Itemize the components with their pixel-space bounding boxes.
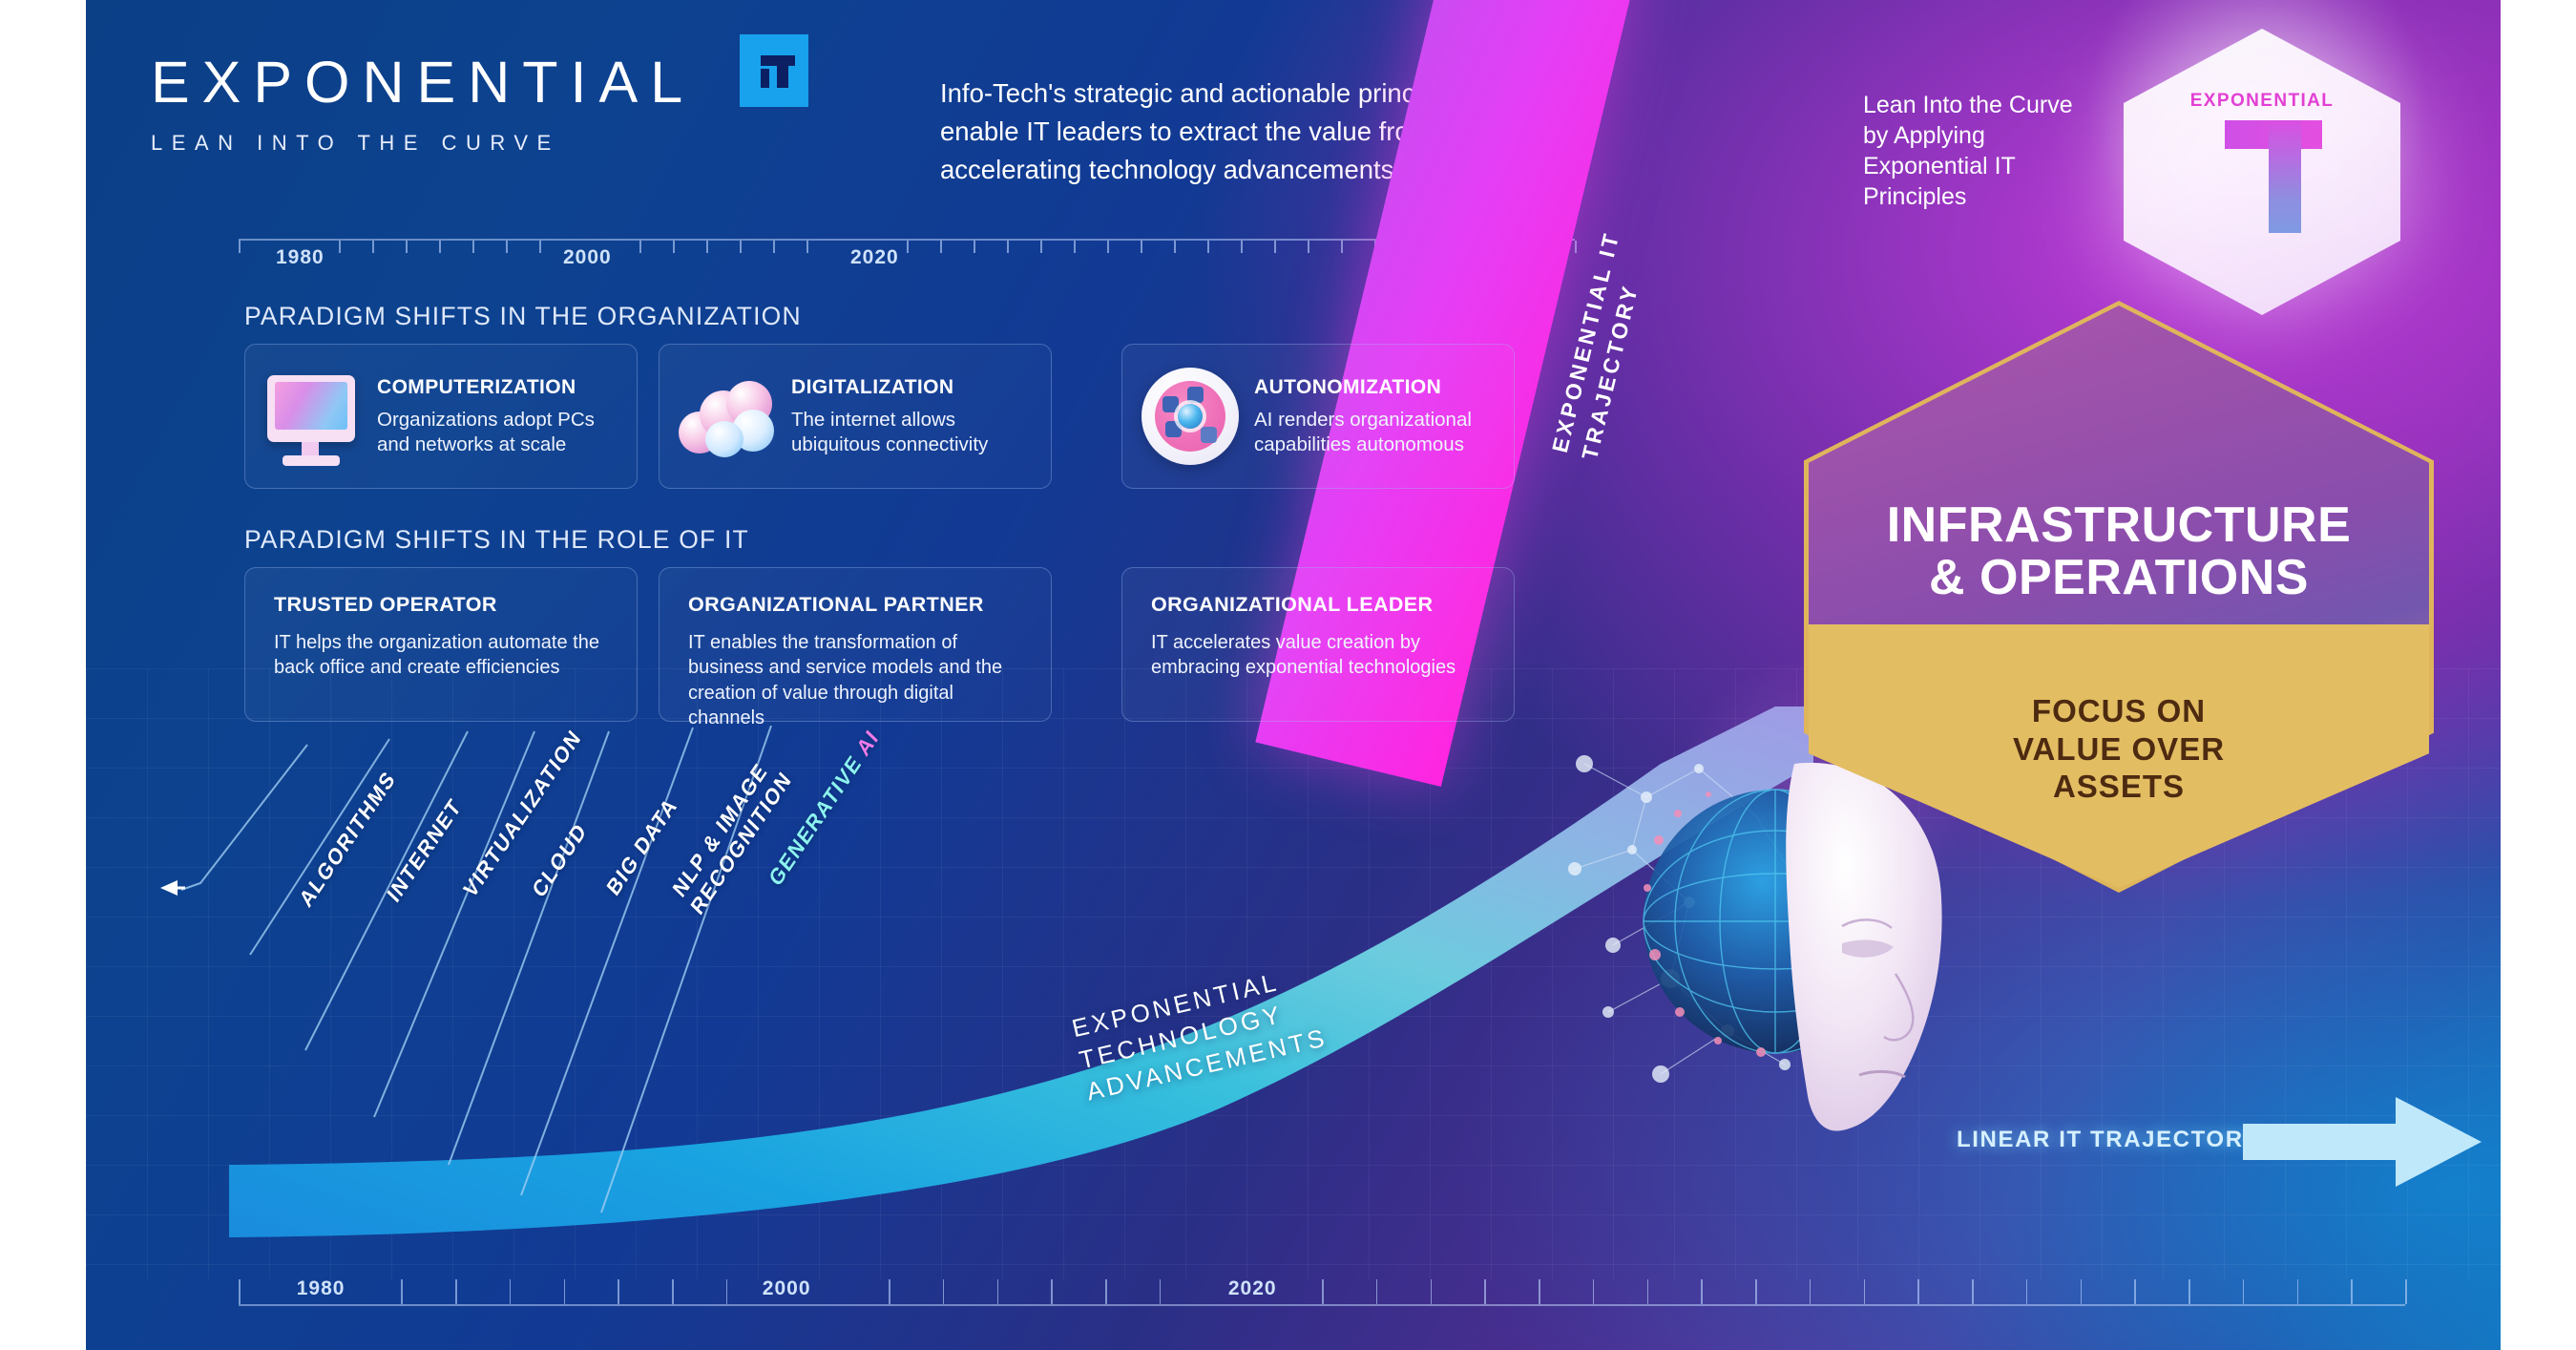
- hex-subheading: FOCUS ON VALUE OVER ASSETS: [1804, 692, 2434, 806]
- timeline-tick: [455, 1279, 457, 1304]
- timeline-tick: [1105, 1279, 1107, 1304]
- timeline-tick: [1864, 1279, 1866, 1304]
- hex-sub-line3: ASSETS: [1804, 768, 2434, 806]
- timeline-year: 1980: [276, 246, 325, 269]
- card-organizational-partner[interactable]: ORGANIZATIONAL PARTNER IT enables the tr…: [659, 567, 1052, 722]
- monogram-stem: [2269, 120, 2301, 233]
- autonomous-gears-sphere-icon: [1136, 362, 1245, 471]
- timeline-tick: [2351, 1279, 2353, 1304]
- cloud-shape: [679, 377, 776, 454]
- badge-caption: Lean Into the Curve by Applying Exponent…: [1863, 90, 2083, 212]
- timeline-tick: [2134, 1279, 2136, 1304]
- timeline-tick: [639, 241, 641, 253]
- timeline-tick: [1174, 241, 1176, 253]
- infographic-poster: 198020002020 EXPONENTIAL LEAN INTO THE C…: [86, 0, 2501, 1350]
- card-organizational-leader[interactable]: ORGANIZATIONAL LEADER IT accelerates val…: [1121, 567, 1515, 722]
- timeline-tick: [1241, 241, 1243, 253]
- hex-sub-line1: FOCUS ON: [1804, 692, 2434, 730]
- monogram-dot: [2225, 170, 2251, 233]
- page-title: EXPONENTIAL: [151, 53, 695, 112]
- timeline-tick: [1972, 1279, 1974, 1304]
- hex-badge-word: EXPONENTIAL: [2173, 92, 2351, 110]
- timeline-tick: [2405, 1279, 2407, 1304]
- timeline-tick: [472, 241, 474, 253]
- card-computerization[interactable]: COMPUTERIZATION Organizations adopt PCs …: [244, 344, 638, 489]
- sphere-core: [1178, 404, 1203, 429]
- timeline-tick: [1040, 241, 1042, 253]
- infrastructure-operations-hexagon: INFRASTRUCTURE & OPERATIONS FOCUS ON VAL…: [1804, 301, 2434, 893]
- card-title: ORGANIZATIONAL PARTNER: [688, 593, 1024, 617]
- hex-heading: INFRASTRUCTURE & OPERATIONS: [1804, 499, 2434, 604]
- gear-icon: [1201, 427, 1217, 443]
- card-title: COMPUTERIZATION: [377, 376, 623, 399]
- card-description: The internet allows ubiquitous connectiv…: [791, 408, 1037, 457]
- card-title: ORGANIZATIONAL LEADER: [1151, 593, 1487, 617]
- card-title: DIGITALIZATION: [791, 376, 1037, 399]
- timeline-year: 1980: [297, 1277, 346, 1300]
- it-logo-stem: [777, 55, 788, 88]
- timeline-tick: [1160, 1279, 1162, 1304]
- timeline-tick: [740, 241, 742, 253]
- right-arrow-icon: [2243, 1088, 2482, 1195]
- hex-sub-line2: VALUE OVER: [1804, 730, 2434, 769]
- timeline-tick: [539, 241, 541, 253]
- timeline-tick: [773, 241, 775, 253]
- card-title: TRUSTED OPERATOR: [274, 593, 610, 617]
- timeline-tick: [2297, 1279, 2299, 1304]
- linear-it-trajectory-label: LINEAR IT TRAJECTORY: [1957, 1127, 2259, 1153]
- card-description: IT helps the organization automate the b…: [274, 630, 610, 681]
- timeline-tick: [2026, 1279, 2028, 1304]
- brand-block: EXPONENTIAL LEAN INTO THE CURVE: [151, 53, 695, 156]
- desktop-monitor-icon: [259, 362, 367, 471]
- timeline-tick: [1484, 1279, 1486, 1304]
- card-description: IT accelerates value creation by embraci…: [1151, 630, 1487, 681]
- timeline-tick: [2081, 1279, 2083, 1304]
- timeline-tick: [997, 1279, 999, 1304]
- timeline-tick: [339, 241, 341, 253]
- timeline-tick: [439, 241, 441, 253]
- timeline-tick: [907, 241, 909, 253]
- card-description: IT enables the transformation of busines…: [688, 630, 1024, 731]
- card-digitalization[interactable]: DIGITALIZATION The internet allows ubiqu…: [659, 344, 1052, 489]
- timeline-tick: [672, 1279, 674, 1304]
- gear-icon: [1187, 387, 1204, 403]
- monitor-base: [283, 455, 340, 466]
- timeline-tick: [1376, 1279, 1378, 1304]
- timeline-tick: [1007, 241, 1009, 253]
- card-title: AUTONOMIZATION: [1254, 376, 1500, 399]
- timeline-tick: [943, 1279, 945, 1304]
- timeline-tick: [673, 241, 675, 253]
- timeline-tick: [1755, 1279, 1757, 1304]
- sphere-shape: [1141, 368, 1239, 465]
- it-logo-dot: [761, 69, 769, 88]
- timeline-tick: [1917, 1279, 1919, 1304]
- card-description: Organizations adopt PCs and networks at …: [377, 408, 623, 457]
- timeline-rule: [239, 1304, 2405, 1306]
- timeline-tick: [1575, 241, 1577, 253]
- timeline-tick: [510, 1279, 512, 1304]
- exponential-it-hex-badge: EXPONENTIAL: [2124, 29, 2400, 315]
- timeline-tick: [372, 241, 374, 253]
- timeline-bottom: 198020002020: [239, 1274, 2405, 1306]
- timeline-tick: [401, 1279, 403, 1304]
- timeline-tick: [2243, 1279, 2245, 1304]
- timeline-tick: [1647, 1279, 1649, 1304]
- timeline-tick: [618, 1279, 619, 1304]
- card-trusted-operator[interactable]: TRUSTED OPERATOR IT helps the organizati…: [244, 567, 638, 722]
- card-description: AI renders organizational capabilities a…: [1254, 408, 1500, 457]
- card-autonomization[interactable]: AUTONOMIZATION AI renders organizational…: [1121, 344, 1515, 489]
- timeline-tick: [940, 241, 942, 253]
- hex-heading-line2: & OPERATIONS: [1804, 552, 2434, 604]
- linear-trajectory-group: LINEAR IT TRAJECTORY: [1957, 1098, 2491, 1203]
- monitor-screen: [275, 382, 347, 430]
- timeline-tick: [1074, 241, 1076, 253]
- timeline-tick: [1701, 1279, 1703, 1304]
- brand-tagline: LEAN INTO THE CURVE: [151, 131, 695, 156]
- timeline-tick: [1274, 241, 1276, 253]
- timeline-tick: [1431, 1279, 1433, 1304]
- timeline-tick: [726, 1279, 728, 1304]
- it-logo-icon: [740, 34, 808, 107]
- monitor-bezel: [267, 375, 355, 442]
- timeline-tick: [806, 241, 808, 253]
- it-monogram-icon: [2202, 120, 2322, 239]
- timeline-tick: [1322, 1279, 1324, 1304]
- timeline-year: 2000: [563, 246, 612, 269]
- timeline-tick: [506, 241, 508, 253]
- gear-icon: [1162, 396, 1179, 412]
- timeline-tick: [1593, 1279, 1595, 1304]
- section-title-role-of-it: PARADIGM SHIFTS IN THE ROLE OF IT: [244, 525, 749, 555]
- timeline-tick: [406, 241, 408, 253]
- timeline-tick: [1341, 241, 1343, 253]
- section-title-organization: PARADIGM SHIFTS IN THE ORGANIZATION: [244, 302, 802, 331]
- hex-heading-line1: INFRASTRUCTURE: [1804, 499, 2434, 552]
- timeline-tick: [2189, 1279, 2190, 1304]
- timeline-tick: [1539, 1279, 1540, 1304]
- timeline-tick: [1810, 1279, 1812, 1304]
- timeline-tick: [1051, 1279, 1053, 1304]
- cloud-icon: [673, 362, 782, 471]
- timeline-tick: [564, 1279, 566, 1304]
- timeline-tick: [1308, 241, 1309, 253]
- timeline-tick: [889, 1279, 890, 1304]
- timeline-tick: [239, 1279, 241, 1304]
- timeline-year: 2020: [850, 246, 899, 269]
- timeline-tick: [239, 241, 241, 253]
- timeline-year: 2000: [763, 1277, 811, 1300]
- timeline-tick: [706, 241, 708, 253]
- timeline-tick: [1207, 241, 1209, 253]
- timeline-tick: [1141, 241, 1142, 253]
- timeline-tick: [974, 241, 975, 253]
- hex-badge-logo: EXPONENTIAL: [2173, 92, 2351, 239]
- timeline-tick: [1107, 241, 1109, 253]
- timeline-year: 2020: [1228, 1277, 1277, 1300]
